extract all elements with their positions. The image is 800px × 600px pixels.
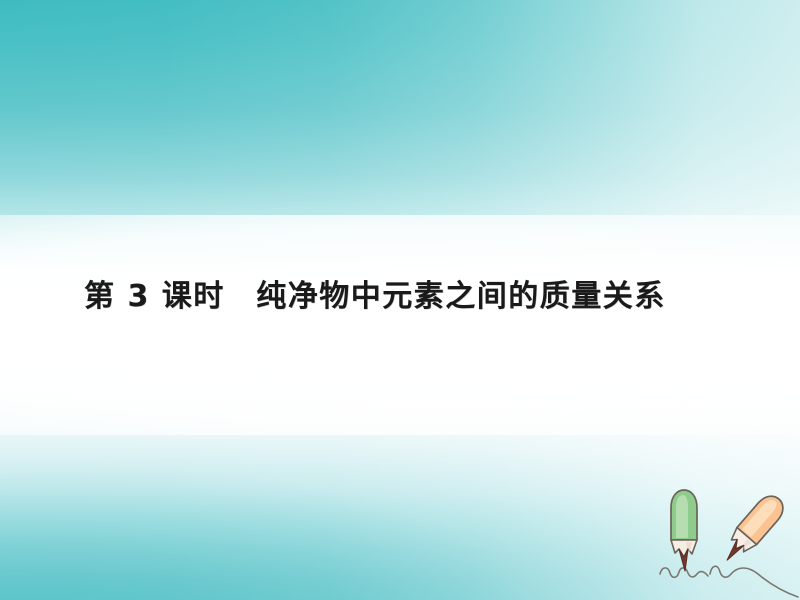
background-white-core-band (0, 215, 800, 435)
orange-pencil-scribble-icon (710, 566, 798, 597)
page-title: 第 3 课时 纯净物中元素之间的质量关系 (0, 282, 800, 312)
green-pencil-icon (671, 490, 697, 571)
background-bottom-left-tint (0, 450, 560, 600)
page-title-text: 第 3 课时 纯净物中元素之间的质量关系 (84, 282, 800, 312)
slide-canvas: 第 3 课时 纯净物中元素之间的质量关系 (0, 0, 800, 600)
pencil-illustration (648, 478, 800, 600)
orange-pencil-icon (717, 491, 789, 568)
